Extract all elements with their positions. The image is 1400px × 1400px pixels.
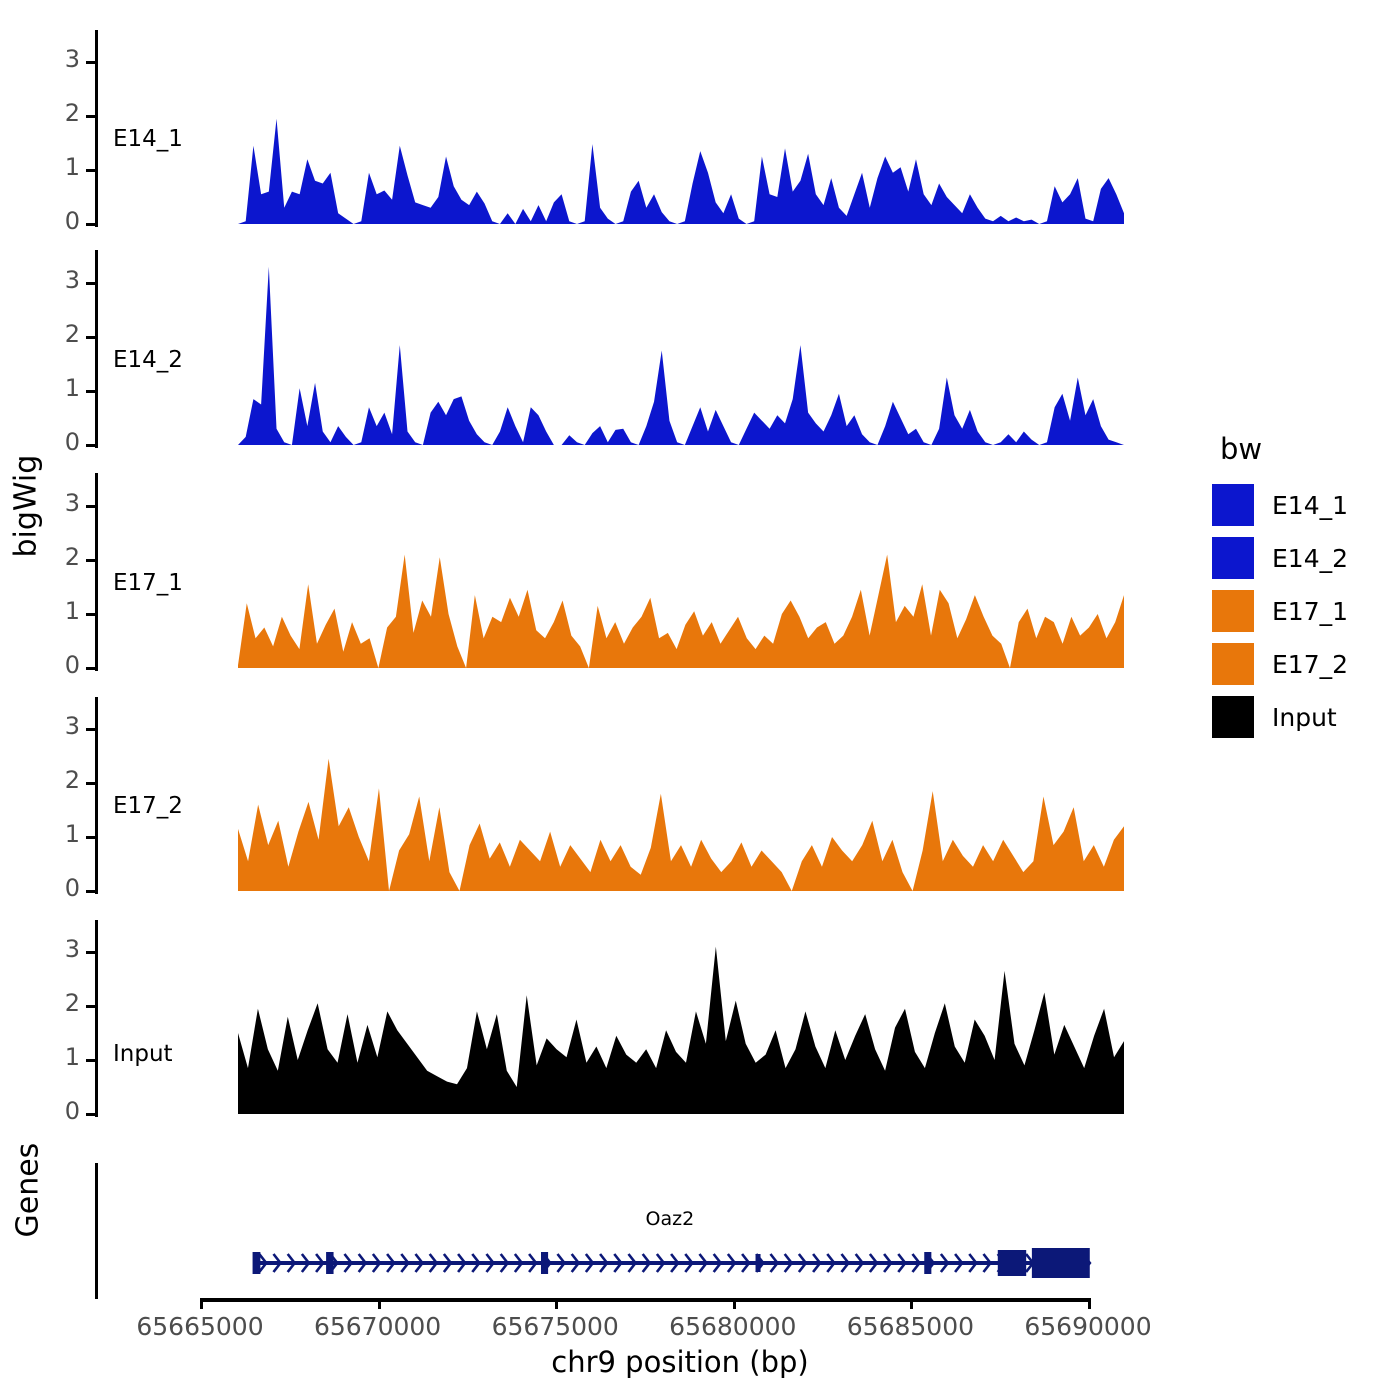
y-axis-title-bigwig: bigWig — [9, 518, 44, 558]
signal-track-e14_1 — [238, 30, 1124, 226]
legend-item-e14_1[interactable]: E14_1 — [1212, 484, 1348, 526]
y-tick-label-e17_2-0: 0 — [40, 876, 80, 900]
y-tick-label-e14_2-2: 2 — [40, 322, 80, 346]
x-tick-label-65665000: 65665000 — [136, 1312, 263, 1341]
x-axis-line — [200, 1298, 1089, 1302]
legend-label-e14_1: E14_1 — [1272, 491, 1348, 520]
y-tick-label-e17_1-3: 3 — [40, 491, 80, 515]
legend-swatch-e14_1 — [1212, 484, 1254, 526]
y-tick-label-e17_1-0: 0 — [40, 653, 80, 677]
y-tick-e17_2-3 — [86, 728, 95, 731]
y-axis-line-input — [95, 920, 98, 1117]
x-tick-65670000 — [378, 1298, 381, 1309]
y-tick-e14_1-0 — [86, 223, 95, 226]
track-label-e17_2: E17_2 — [113, 793, 183, 819]
x-tick-label-65685000: 65685000 — [847, 1312, 974, 1341]
y-tick-label-e14_1-3: 3 — [40, 47, 80, 71]
y-tick-input-2 — [86, 1005, 95, 1008]
y-tick-e17_1-3 — [86, 505, 95, 508]
track-label-input: Input — [113, 1041, 173, 1067]
legend-title: bw — [1220, 432, 1262, 466]
legend-label-e14_2: E14_2 — [1272, 544, 1348, 573]
legend-item-input[interactable]: Input — [1212, 696, 1337, 738]
x-tick-65690000 — [1088, 1298, 1091, 1309]
y-tick-e14_1-3 — [86, 61, 95, 64]
signal-track-input — [238, 920, 1124, 1116]
y-tick-e17_1-2 — [86, 559, 95, 562]
y-tick-label-input-1: 1 — [40, 1045, 80, 1069]
y-tick-e17_1-1 — [86, 613, 95, 616]
y-tick-e17_2-1 — [86, 836, 95, 839]
y-tick-label-input-2: 2 — [40, 991, 80, 1015]
y-tick-e14_2-3 — [86, 282, 95, 285]
signal-track-e17_2 — [238, 697, 1124, 893]
legend-label-input: Input — [1272, 703, 1337, 732]
y-tick-e17_2-0 — [86, 890, 95, 893]
legend-label-e17_1: E17_1 — [1272, 597, 1348, 626]
y-tick-label-e17_1-1: 1 — [40, 599, 80, 623]
y-tick-label-input-0: 0 — [40, 1099, 80, 1123]
y-tick-label-e14_2-1: 1 — [40, 376, 80, 400]
legend-swatch-e17_2 — [1212, 643, 1254, 685]
y-tick-label-input-3: 3 — [40, 937, 80, 961]
y-tick-e17_1-0 — [86, 667, 95, 670]
y-axis-line-e14_2 — [95, 250, 98, 448]
legend-item-e17_2[interactable]: E17_2 — [1212, 643, 1348, 685]
x-tick-65685000 — [910, 1298, 913, 1309]
y-tick-input-0 — [86, 1113, 95, 1116]
y-tick-e14_2-1 — [86, 390, 95, 393]
y-tick-label-e17_2-1: 1 — [40, 822, 80, 846]
y-tick-label-e14_1-2: 2 — [40, 101, 80, 125]
y-tick-label-e14_2-0: 0 — [40, 430, 80, 454]
y-tick-input-3 — [86, 951, 95, 954]
signal-track-e14_2 — [238, 250, 1124, 447]
legend-swatch-e17_1 — [1212, 590, 1254, 632]
y-tick-e14_1-2 — [86, 115, 95, 118]
legend-swatch-input — [1212, 696, 1254, 738]
y-tick-label-e17_1-2: 2 — [40, 545, 80, 569]
y-axis-line-e17_2 — [95, 697, 98, 894]
gene-model-svg — [0, 1200, 1200, 1320]
track-label-e14_2: E14_2 — [113, 347, 183, 373]
x-tick-label-65675000: 65675000 — [492, 1312, 619, 1341]
y-tick-label-e14_1-0: 0 — [40, 209, 80, 233]
x-tick-65675000 — [555, 1298, 558, 1309]
signal-track-e17_1 — [238, 473, 1124, 670]
legend-swatch-e14_2 — [1212, 537, 1254, 579]
x-axis-title: chr9 position (bp) — [230, 1345, 1130, 1379]
y-tick-e14_1-1 — [86, 169, 95, 172]
legend-item-e17_1[interactable]: E17_1 — [1212, 590, 1348, 632]
y-tick-label-e14_2-3: 3 — [40, 268, 80, 292]
x-tick-label-65680000: 65680000 — [669, 1312, 796, 1341]
x-tick-label-65670000: 65670000 — [314, 1312, 441, 1341]
y-tick-label-e14_1-1: 1 — [40, 155, 80, 179]
track-label-e17_1: E17_1 — [113, 570, 183, 596]
legend-label-e17_2: E17_2 — [1272, 650, 1348, 679]
x-tick-65680000 — [733, 1298, 736, 1309]
y-tick-label-e17_2-3: 3 — [40, 714, 80, 738]
y-axis-line-e14_1 — [95, 30, 98, 227]
legend-item-e14_2[interactable]: E14_2 — [1212, 537, 1348, 579]
track-label-e14_1: E14_1 — [113, 126, 183, 152]
y-tick-label-e17_2-2: 2 — [40, 768, 80, 792]
y-axis-line-e17_1 — [95, 473, 98, 671]
y-tick-e17_2-2 — [86, 782, 95, 785]
figure-root: bigWig Genes chr9 position (bp) 0123E14_… — [0, 0, 1400, 1400]
x-tick-label-65690000: 65690000 — [1024, 1312, 1151, 1341]
y-tick-input-1 — [86, 1059, 95, 1062]
y-tick-e14_2-2 — [86, 336, 95, 339]
x-tick-65665000 — [200, 1298, 203, 1309]
y-tick-e14_2-0 — [86, 444, 95, 447]
